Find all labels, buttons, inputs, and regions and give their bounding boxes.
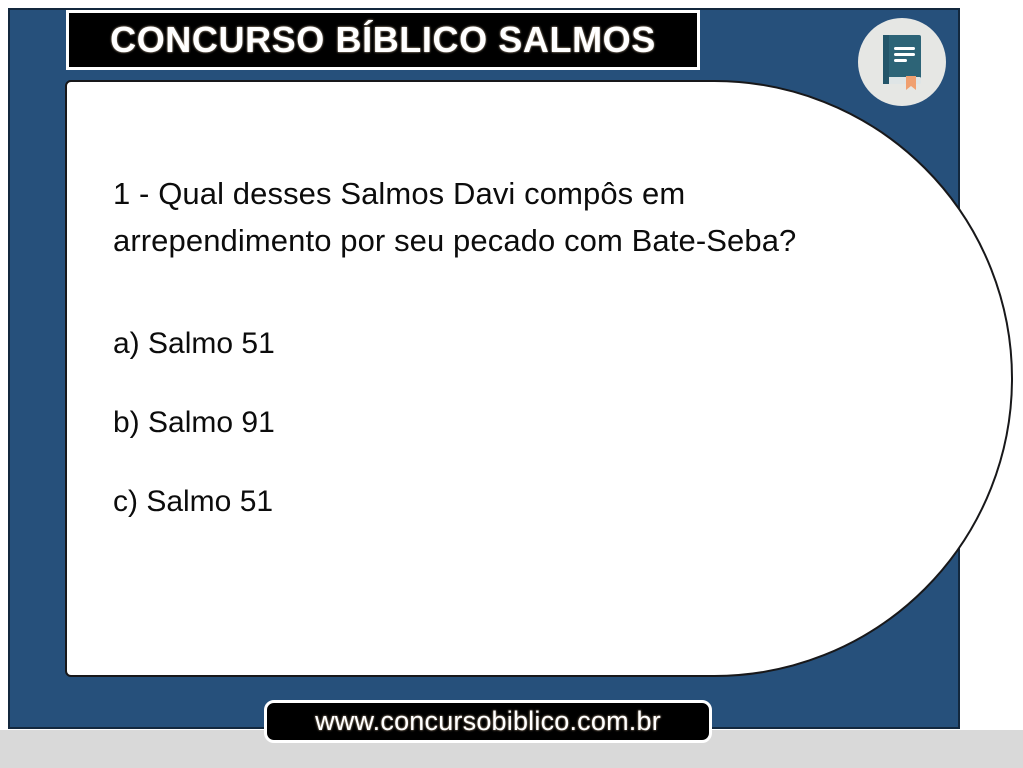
- presentation-slide: 1 - Qual desses Salmos Davi compôs em ar…: [0, 0, 1023, 768]
- book-icon: [875, 33, 929, 91]
- page-title: CONCURSO BÍBLICO SALMOS: [110, 19, 656, 61]
- options-list: a) Salmo 51 b) Salmo 91 c) Salmo 51: [113, 326, 843, 520]
- question-content-inner: 1 - Qual desses Salmos Davi compôs em ar…: [113, 170, 843, 563]
- question-content-card: 1 - Qual desses Salmos Davi compôs em ar…: [65, 80, 1013, 677]
- footer-url-plate[interactable]: www.concursobiblico.com.br: [264, 700, 712, 743]
- question-text: 1 - Qual desses Salmos Davi compôs em ar…: [113, 170, 843, 264]
- option-c[interactable]: c) Salmo 51: [113, 484, 843, 520]
- logo-badge: [858, 18, 946, 106]
- title-plate: CONCURSO BÍBLICO SALMOS: [66, 10, 700, 70]
- footer-url-text: www.concursobiblico.com.br: [315, 706, 661, 737]
- option-a[interactable]: a) Salmo 51: [113, 326, 843, 362]
- option-b[interactable]: b) Salmo 91: [113, 405, 843, 441]
